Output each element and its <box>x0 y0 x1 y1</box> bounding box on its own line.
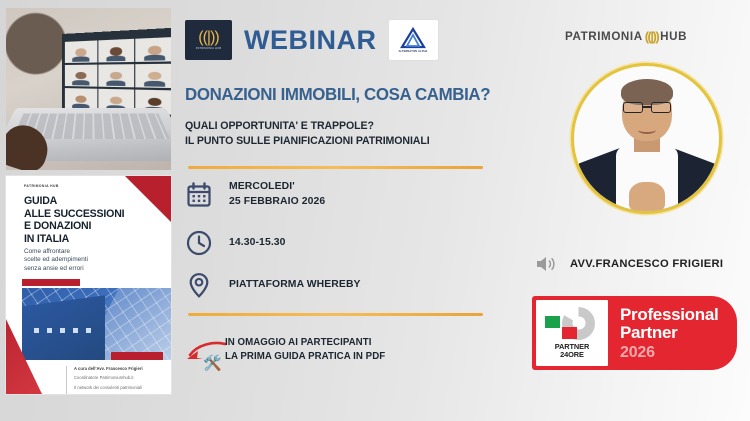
book-subtitle-line-3: senza ansie ed errori <box>24 265 144 273</box>
webinar-subheadline: QUALI OPPORTUNITA' E TRAPPOLE? IL PUNTO … <box>185 119 511 150</box>
participant-tile <box>99 64 134 88</box>
date-text: MERCOLEDI' 25 FEBBRAIO 2026 <box>229 180 325 210</box>
webinar-headline: DONAZIONI IMMOBILI, COSA CAMBIA? <box>185 84 498 105</box>
participant-tile <box>136 64 171 89</box>
divider-bottom <box>188 313 483 316</box>
guide-book-cover: PATRIMONIA HUB GUIDA ALLE SUCCESSIONI E … <box>6 176 171 394</box>
partner-24ore-logo: PARTNER 24ORE <box>536 300 608 366</box>
patrimonia-hub-logo: ((|)) PATRIMONIA HUB <box>185 20 232 60</box>
participant-tile <box>99 39 134 63</box>
triangle-icon <box>400 27 426 49</box>
divider-top <box>188 166 483 169</box>
badge-title-line-1: Professional <box>620 306 733 324</box>
video-participant-grid <box>65 37 171 115</box>
glasses-icon <box>623 102 671 114</box>
professional-partner-badge: PARTNER 24ORE Professional Partner 2026 <box>532 296 737 370</box>
book-title-line-1: GUIDA <box>24 195 144 208</box>
patrimonia-hub-wordmark: PATRIMONIA ((|)) HUB <box>565 30 687 43</box>
smile <box>638 126 656 134</box>
partner-24ore-mark-icon <box>545 307 599 341</box>
time-text: 14.30-15.30 <box>229 236 286 251</box>
red-square-icon <box>562 327 577 339</box>
book-footer: A cura dell'Avv. Francesco Frigieri Coor… <box>66 366 170 394</box>
patrimonia-hub-logo-text: PATRIMONIA HUB <box>196 47 221 50</box>
speaker-credit: AVV.FRANCESCO FRIGIERI <box>535 256 723 272</box>
location-row: PIATTAFORMA WHEREBY <box>185 271 361 299</box>
location-pin-icon <box>185 271 213 299</box>
badge-year: 2026 <box>620 344 733 362</box>
arrow-callout: 🛠️ <box>183 336 227 376</box>
clock-icon <box>185 229 213 257</box>
badge-title-line-2: Partner <box>620 324 733 342</box>
partner-label-line-2: 24ORE <box>555 351 589 359</box>
book-affiliation-line-1: Coordinatore Patrimoniumhub.it <box>74 375 170 381</box>
subheadline-line-1: QUALI OPPORTUNITA' E TRAPPOLE? <box>185 119 511 134</box>
book-author: A cura dell'Avv. Francesco Frigieri <box>74 366 170 372</box>
speaker-audio-icon <box>535 256 557 272</box>
webinar-label: WEBINAR <box>244 25 377 56</box>
tools-icon: 🛠️ <box>203 356 222 371</box>
alternative-alpha-logo: ALTERNATIVE ALPHA <box>389 20 438 60</box>
laptop-screen <box>62 27 171 118</box>
badge-title-block: Professional Partner 2026 <box>608 300 733 366</box>
platform-text: PIATTAFORMA WHEREBY <box>229 278 361 293</box>
participant-tile <box>65 40 97 63</box>
book-brand-label: PATRIMONIA HUB <box>24 184 59 188</box>
clasped-hands <box>629 182 665 211</box>
sound-wave-icon: ((|)) <box>645 30 658 43</box>
speaker-portrait <box>574 66 719 211</box>
book-title-line-2: ALLE SUCCESSIONI <box>24 208 144 221</box>
book-accent-bar <box>22 279 80 286</box>
partner-24ore-text: PARTNER 24ORE <box>555 343 589 359</box>
book-title-line-4: IN ITALIA <box>24 233 144 246</box>
subheadline-line-2: IL PUNTO SULLE PIANIFICAZIONI PATRIMONIA… <box>185 134 511 149</box>
book-subtitle-line-2: scelte ed adempimenti <box>24 256 144 264</box>
book-subtitle-line-1: Come affrontare <box>24 248 144 256</box>
book-title: GUIDA ALLE SUCCESSIONI E DONAZIONI IN IT… <box>24 195 144 246</box>
promo-line-1: IN OMAGGIO AI PARTECIPANTI <box>225 336 475 350</box>
webinar-header: ((|)) PATRIMONIA HUB WEBINAR ALTERNATIVE… <box>185 20 438 60</box>
brand-left-text: PATRIMONIA <box>565 30 643 43</box>
green-square-icon <box>545 316 560 328</box>
book-title-line-3: E DONAZIONI <box>24 220 144 233</box>
date-full: 25 FEBBRAIO 2026 <box>229 195 325 210</box>
calendar-icon <box>185 181 213 209</box>
participant-tile <box>65 64 97 86</box>
left-media-column: PATRIMONIA HUB GUIDA ALLE SUCCESSIONI E … <box>0 0 177 421</box>
alternative-alpha-logo-text: ALTERNATIVE ALPHA <box>398 50 427 53</box>
center-content-column: ((|)) PATRIMONIA HUB WEBINAR ALTERNATIVE… <box>177 0 517 421</box>
book-subtitle: Come affrontare scelte ed adempimenti se… <box>24 248 144 273</box>
sound-wave-icon: ((|)) <box>198 30 218 46</box>
speaker-name: AVV.FRANCESCO FRIGIERI <box>570 258 723 270</box>
right-speaker-column: PATRIMONIA ((|)) HUB AVV.FRANCESCO FRIGI… <box>517 0 750 421</box>
brand-right-text: HUB <box>660 30 687 43</box>
participant-tile <box>136 37 171 62</box>
promo-line-2: LA PRIMA GUIDA PRATICA IN PDF <box>225 350 475 364</box>
time-row: 14.30-15.30 <box>185 229 286 257</box>
video-call-laptop-photo <box>6 8 171 170</box>
book-accent-bar-secondary <box>111 352 163 360</box>
date-row: MERCOLEDI' 25 FEBBRAIO 2026 <box>185 180 325 210</box>
date-weekday: MERCOLEDI' <box>229 180 325 195</box>
book-affiliation-line-2: Il network dei consulenti patrimoniali <box>74 385 170 391</box>
promo-text: IN OMAGGIO AI PARTECIPANTI LA PRIMA GUID… <box>225 336 475 364</box>
book-cover-building-photo <box>22 288 171 360</box>
